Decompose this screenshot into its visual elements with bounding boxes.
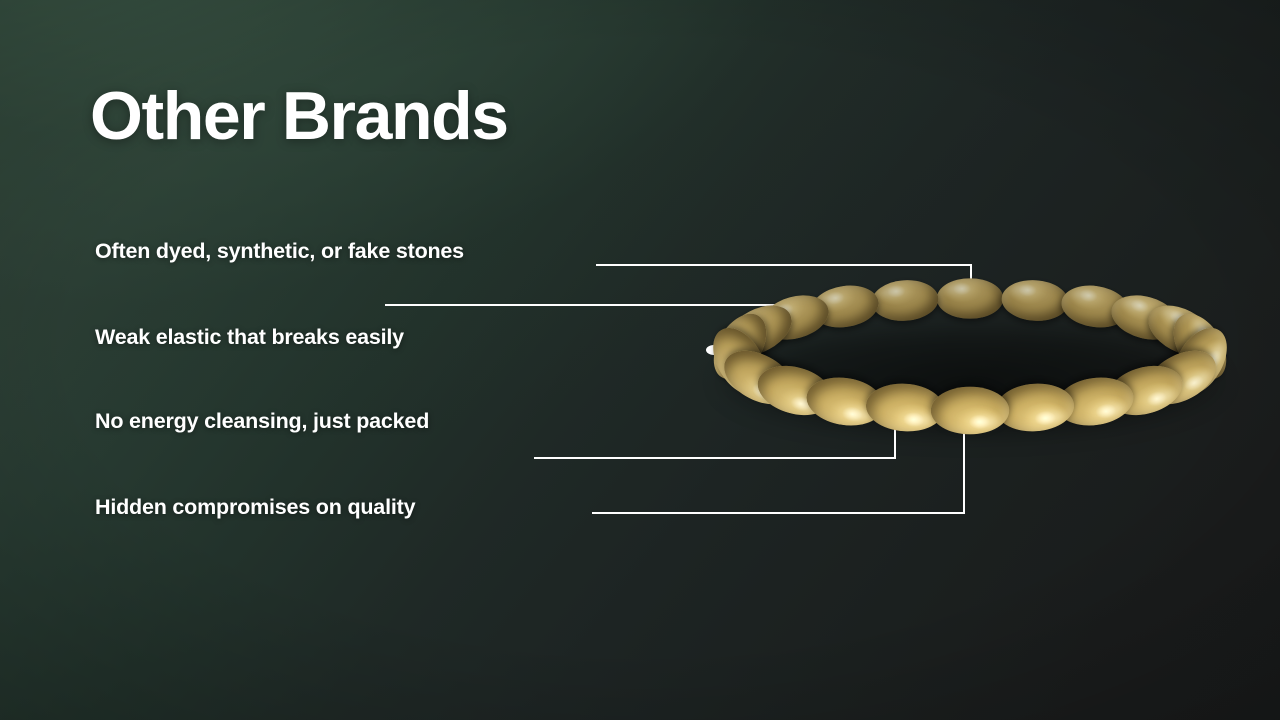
callout-hidden-compromises: Hidden compromises on quality: [95, 494, 575, 520]
bracelet-bead: [870, 278, 940, 323]
page-title: Other Brands: [90, 82, 508, 150]
bracelet-bead: [931, 386, 1009, 434]
bracelet-bead: [937, 278, 1004, 319]
bracelet-bead: [1001, 278, 1071, 323]
callout-dyed-synthetic-fake-stones: Often dyed, synthetic, or fake stones: [95, 238, 575, 264]
callout-weak-elastic-breaks: Weak elastic that breaks easily: [95, 324, 575, 350]
bracelet-product-image: [700, 268, 1240, 438]
callout-no-energy-cleansing: No energy cleansing, just packed: [95, 408, 575, 434]
slide-canvas: Other Brands Often dyed, synthetic, or f…: [0, 0, 1280, 720]
